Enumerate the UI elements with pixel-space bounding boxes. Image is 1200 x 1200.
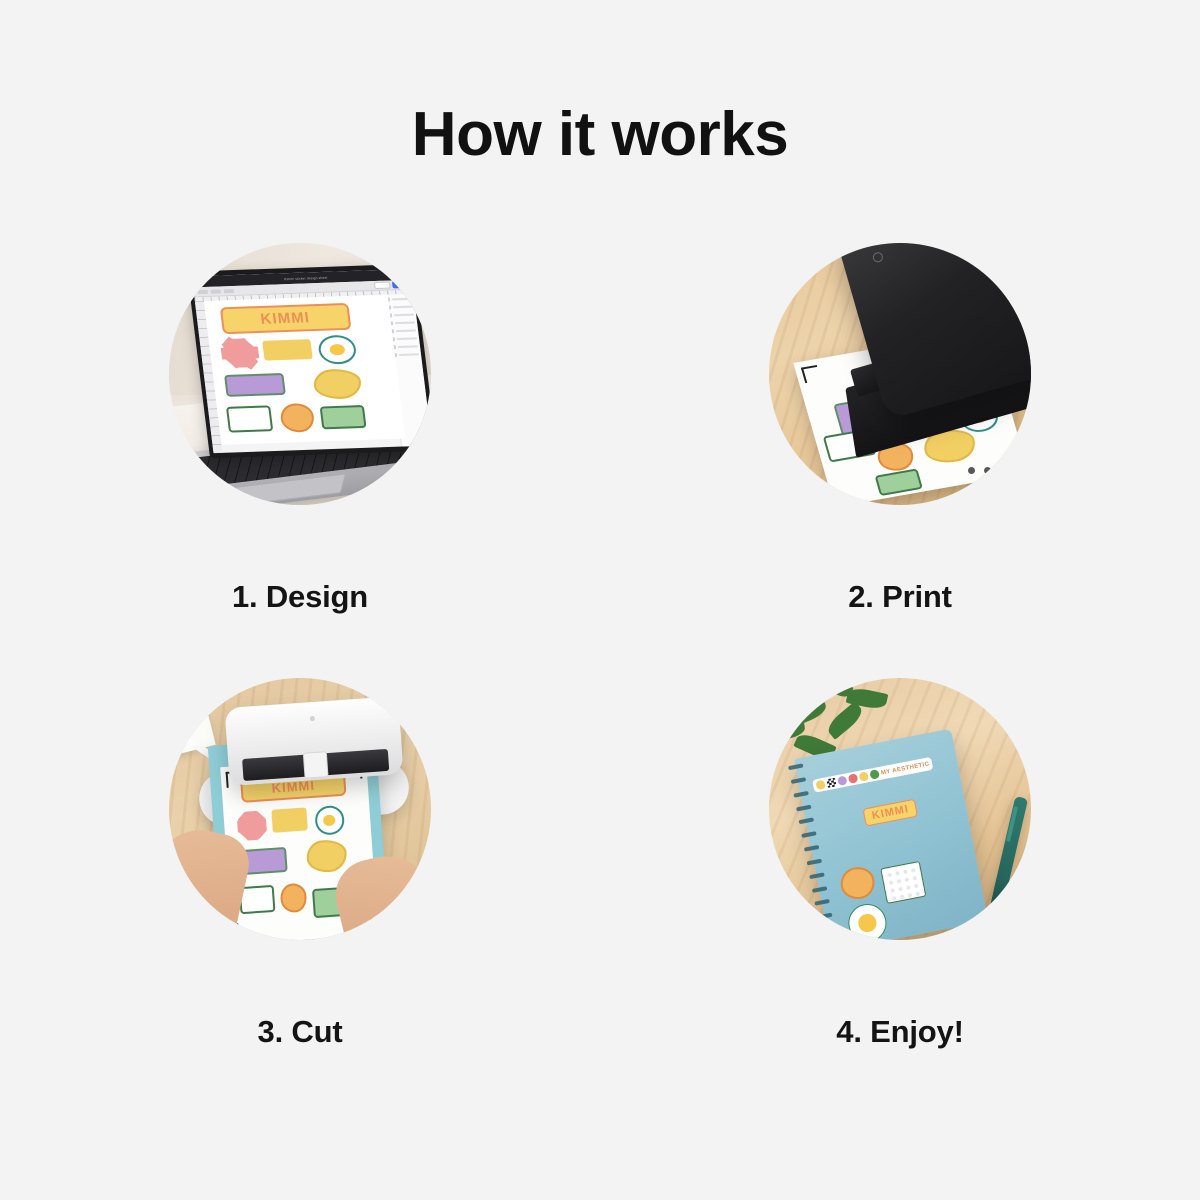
sticker-yellow-blob <box>306 839 348 874</box>
my-aesthetic-label: MY AESTHETIC <box>880 761 929 776</box>
page-title: How it works <box>0 99 1200 170</box>
registration-mark-icon <box>236 922 253 939</box>
share-button[interactable] <box>374 282 391 290</box>
steps-grid: Kimmi sticker design sheet <box>0 243 1200 1113</box>
laptop-lid: Kimmi sticker design sheet <box>187 264 431 459</box>
toolbar-actions[interactable] <box>374 281 409 289</box>
sticker-daisy-grid[interactable] <box>226 406 273 433</box>
flower-icon <box>815 780 826 791</box>
step-design[interactable]: Kimmi sticker design sheet <box>0 243 600 678</box>
heart-icon <box>848 773 859 784</box>
layer-row[interactable] <box>388 313 415 318</box>
layer-row[interactable] <box>392 344 419 349</box>
sticker-stay-golden-badge[interactable] <box>317 335 357 365</box>
sticker-daisy-grid <box>239 885 276 914</box>
make-it-button[interactable] <box>392 281 409 289</box>
step-enjoy[interactable]: MY AESTHETIC KIMMI 4. Enjoy! <box>600 678 1200 1113</box>
sticker-be-kind-to-yourself[interactable] <box>224 373 285 397</box>
design-canvas[interactable]: KIMMI <box>204 295 405 445</box>
sticker-kimmi: KIMMI <box>863 799 919 827</box>
step-cut-image: KIMMI <box>169 678 431 940</box>
sticker-my-aesthetic: MY AESTHETIC <box>812 757 933 793</box>
power-button-icon[interactable] <box>872 251 884 263</box>
step-print-image: KIMMI <box>769 243 1031 505</box>
flower-icon <box>859 771 870 782</box>
sticker-make-today-amazing[interactable] <box>262 339 312 361</box>
sticker-kimmi[interactable]: KIMMI <box>219 303 351 334</box>
sticker-sheet: KIMMI <box>204 295 405 445</box>
sticker-pink-flower[interactable] <box>220 338 260 368</box>
step-enjoy-image: MY AESTHETIC KIMMI <box>769 678 1031 940</box>
cutting-machine <box>224 696 403 786</box>
machine-carriage <box>303 751 329 779</box>
layer-row[interactable] <box>390 328 417 333</box>
layer-row[interactable] <box>391 336 418 341</box>
sticker-orange-flower <box>280 883 308 913</box>
printer-button-icon[interactable] <box>968 467 975 474</box>
toolbar-tool-icon[interactable] <box>224 288 235 292</box>
registration-mark-icon <box>801 365 821 383</box>
window-dot-icon <box>200 281 202 283</box>
step-enjoy-caption: 4. Enjoy! <box>836 1014 963 1050</box>
printer-control-panel[interactable] <box>887 457 1017 483</box>
toolbar-tool-icon[interactable] <box>197 289 208 293</box>
layer-row[interactable] <box>389 321 416 326</box>
step-print-caption: 2. Print <box>848 579 951 615</box>
smiley-icon <box>837 775 848 786</box>
sticker-stay-golden-badge <box>314 805 345 835</box>
sticker-pink-flower <box>237 811 268 841</box>
sticker-yellow-blob[interactable] <box>312 368 363 400</box>
power-indicator-icon <box>310 716 315 721</box>
sticker-good-days-ahead[interactable] <box>320 405 367 430</box>
window-dot-icon <box>196 281 198 283</box>
sticker-dont-worry-be-happy <box>845 901 890 940</box>
how-it-works-page: How it works Kimmi sticker design sheet <box>0 0 1200 1200</box>
sticker-make-today-amazing <box>272 808 309 834</box>
sticker-orange-flower[interactable] <box>279 403 316 433</box>
step-print[interactable]: KIMMI <box>600 243 1200 678</box>
step-design-image: Kimmi sticker design sheet <box>169 243 431 505</box>
checker-icon <box>826 778 837 789</box>
layer-row[interactable] <box>386 297 413 302</box>
printer-button-icon[interactable] <box>1000 467 1007 474</box>
step-cut-caption: 3. Cut <box>258 1014 343 1050</box>
printer-button-icon[interactable] <box>984 467 991 474</box>
sticker-orange-flower <box>838 864 877 902</box>
checker-flower-icon <box>869 769 880 780</box>
step-design-caption: 1. Design <box>232 579 368 615</box>
step-cut[interactable]: KIMMI <box>0 678 600 1113</box>
sticker-daisy-grid <box>880 861 926 904</box>
layer-row[interactable] <box>393 352 420 357</box>
toolbar-tool-icon[interactable] <box>211 289 222 293</box>
laptop-screen: Kimmi sticker design sheet <box>192 269 431 453</box>
layer-row[interactable] <box>387 305 414 310</box>
